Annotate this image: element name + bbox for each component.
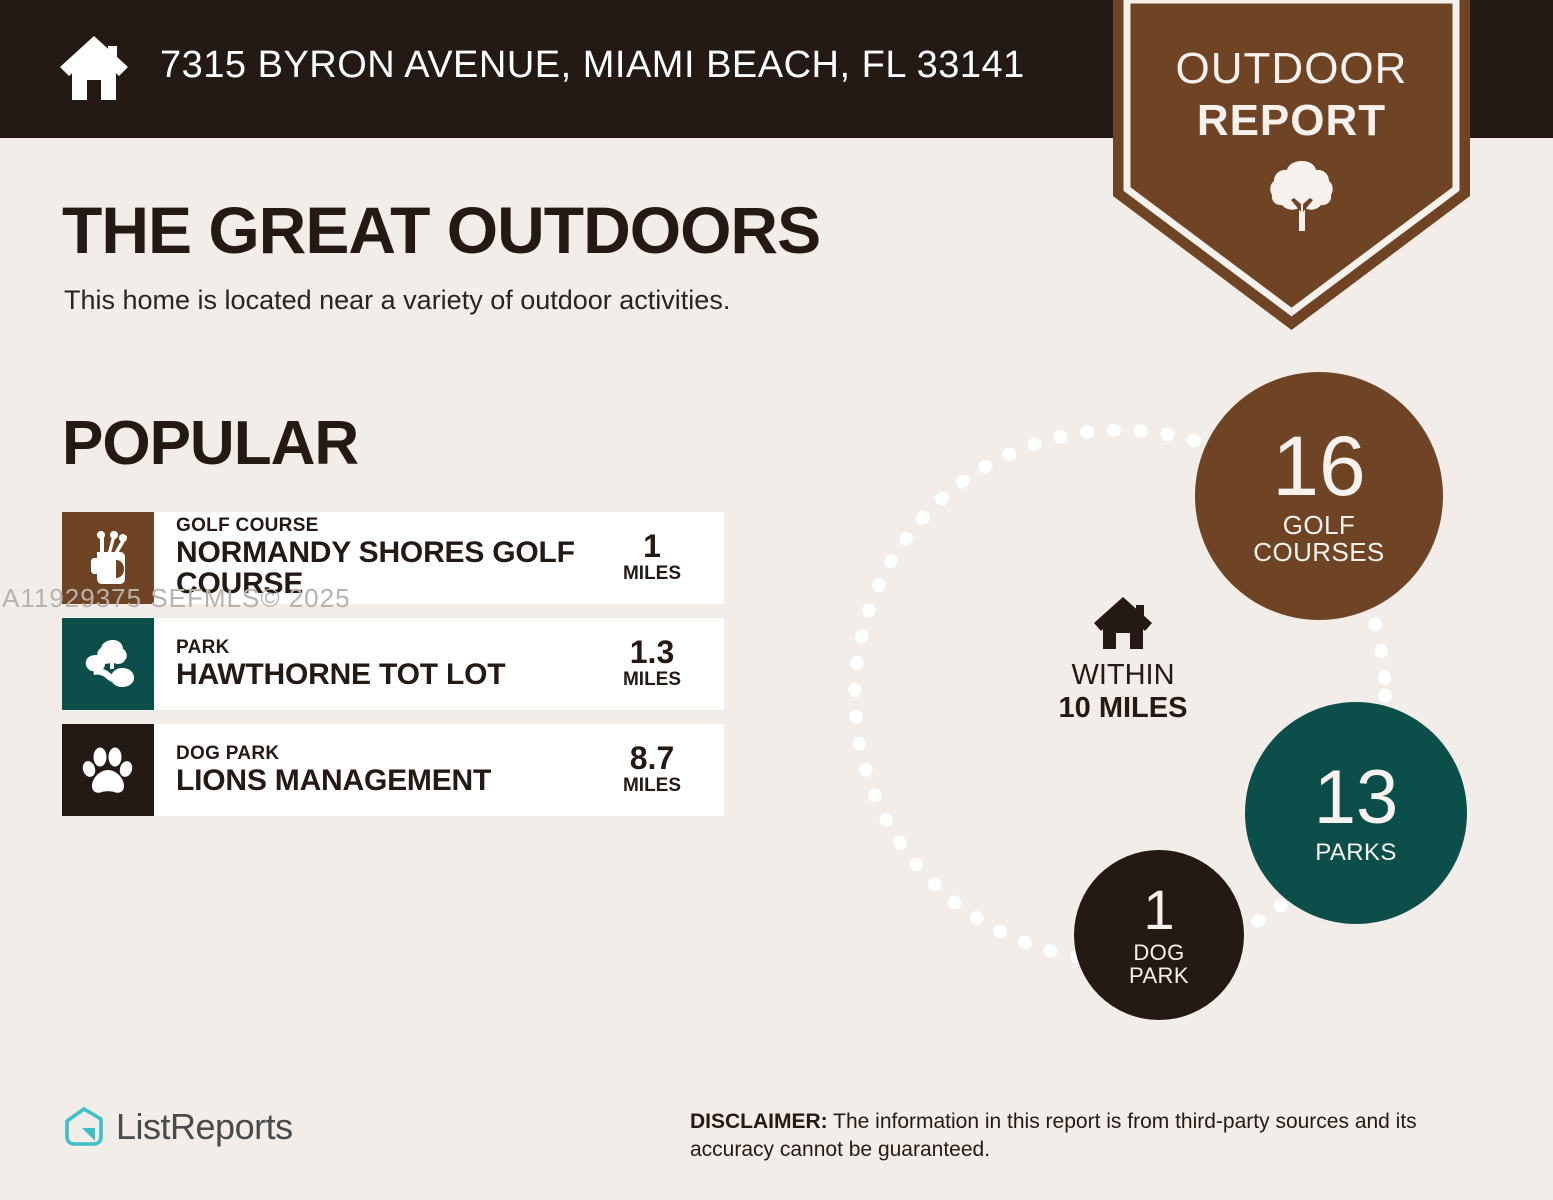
listreports-logo[interactable]: ListReports [62,1105,293,1149]
popular-list: GOLF COURSE NORMANDY SHORES GOLF COURSE … [62,512,724,830]
distance-unit: MILES [623,774,681,799]
mls-watermark: A11929375 SEFMLS© 2025 [2,583,351,614]
paw-print-icon-tile [62,724,154,816]
badge-line-1: OUTDOOR [1113,44,1470,94]
stat-label-line-1: GOLF [1283,512,1355,540]
listreports-house-logo-icon [62,1105,106,1149]
distance-value: 1.3 [630,636,674,668]
paw-print-icon [82,744,134,796]
list-item-text: DOG PARK LIONS MANAGEMENT [154,724,588,816]
list-item-distance: 1 MILES [588,512,724,604]
list-item-category: GOLF COURSE [176,516,588,536]
distance-unit: MILES [623,562,681,587]
list-item[interactable]: PARK HAWTHORNE TOT LOT 1.3 MILES [62,618,724,710]
distance-value: 8.7 [630,742,674,774]
stat-circle-dog-parks[interactable]: 1 DOG PARK [1074,850,1244,1020]
stat-value: 16 [1272,425,1365,507]
stat-label-line-1: DOG [1133,941,1184,964]
list-item[interactable]: DOG PARK LIONS MANAGEMENT 8.7 MILES [62,724,724,816]
diagram-center-label: WITHIN 10 MILES [1018,595,1228,726]
stat-label-line-2: PARK [1129,964,1189,987]
page-title: THE GREAT OUTDOORS [62,192,820,268]
property-address: 7315 BYRON AVENUE, MIAMI BEACH, FL 33141 [160,44,1025,87]
stat-value: 13 [1314,761,1399,835]
park-tree-icon [80,638,136,690]
list-item-category: PARK [176,638,588,658]
center-line-2: 10 MILES [1018,692,1228,725]
list-item-name: HAWTHORNE TOT LOT [176,660,588,691]
list-item-text: PARK HAWTHORNE TOT LOT [154,618,588,710]
stat-label-line-2: COURSES [1253,539,1384,567]
outdoor-report-badge: OUTDOOR REPORT [1113,0,1470,330]
list-item-distance: 1.3 MILES [588,618,724,710]
popular-heading: POPULAR [62,408,358,479]
disclaimer-label: DISCLAIMER: [690,1110,828,1133]
list-item-distance: 8.7 MILES [588,724,724,816]
list-item-category: DOG PARK [176,744,588,764]
page-subtitle: This home is located near a variety of o… [64,285,730,316]
stat-circle-golf-courses[interactable]: 16 GOLF COURSES [1195,372,1443,620]
disclaimer: DISCLAIMER: The information in this repo… [690,1108,1500,1165]
house-icon [58,34,130,102]
stat-value: 1 [1143,883,1174,938]
house-icon [1092,595,1154,651]
list-item-name: LIONS MANAGEMENT [176,766,588,797]
stat-circle-parks[interactable]: 13 PARKS [1245,702,1467,924]
park-tree-icon-tile [62,618,154,710]
tree-icon [1269,160,1335,232]
badge-line-2: REPORT [1113,96,1470,146]
center-line-1: WITHIN [1018,659,1228,692]
within-10-miles-diagram: WITHIN 10 MILES 16 GOLF COURSES 13 PARKS… [820,350,1520,1050]
stat-label-line-1: PARKS [1315,840,1397,865]
listreports-logo-text: ListReports [116,1106,293,1148]
distance-value: 1 [643,530,661,562]
golf-bag-icon [82,530,134,586]
distance-unit: MILES [623,668,681,693]
